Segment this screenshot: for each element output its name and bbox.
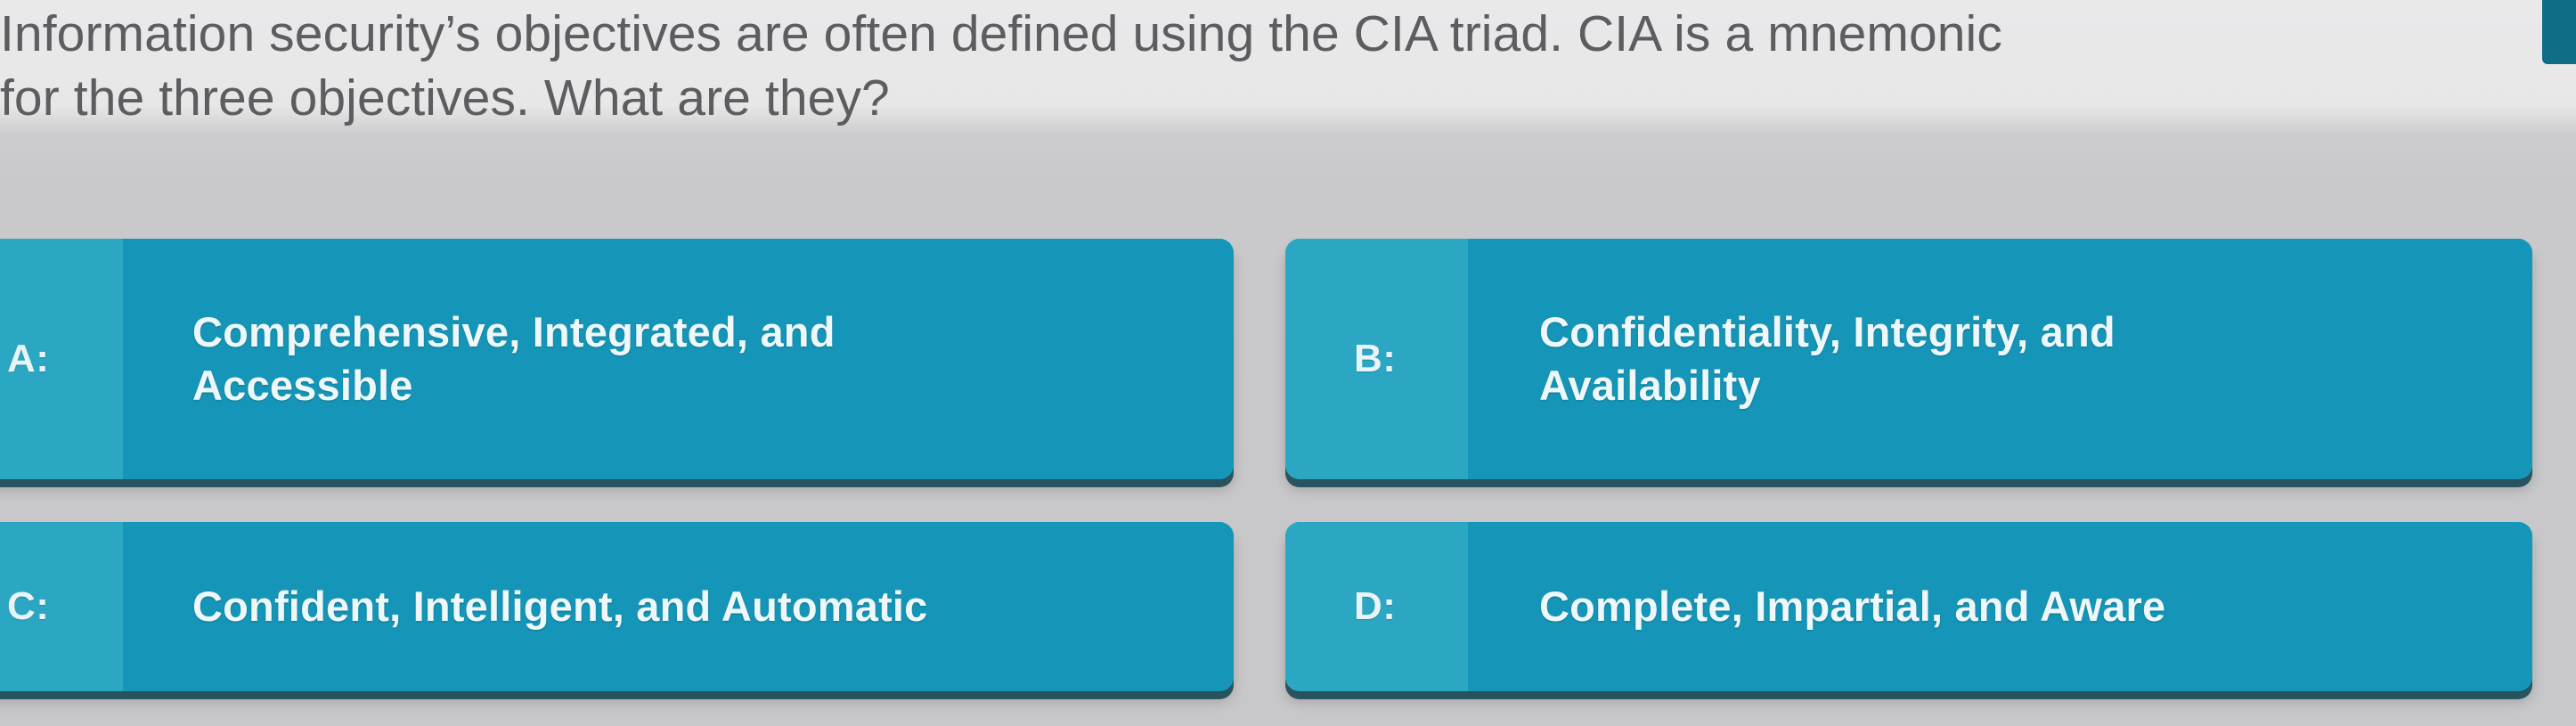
question-text: Information security’s objectives are of… — [0, 2, 2565, 130]
answer-option-a-letter: A: — [7, 337, 49, 381]
answer-options-grid: A: Comprehensive, Integrated, and Access… — [0, 239, 2576, 726]
answer-option-d-text: Complete, Impartial, and Aware — [1539, 580, 2165, 633]
answer-option-a-letter-box: A: — [0, 239, 123, 479]
answer-option-b-text: Confidentiality, Integrity, and Availabi… — [1539, 306, 2115, 412]
answer-option-b-letter: B: — [1354, 337, 1396, 381]
answer-option-c-letter-box: C: — [0, 522, 123, 691]
answer-option-c-letter: C: — [7, 584, 49, 629]
answer-option-b-letter-box: B: — [1285, 239, 1468, 479]
answer-option-b[interactable]: B: Confidentiality, Integrity, and Avail… — [1285, 239, 2532, 479]
answer-option-b-body: Confidentiality, Integrity, and Availabi… — [1468, 239, 2532, 479]
answer-option-a[interactable]: A: Comprehensive, Integrated, and Access… — [0, 239, 1234, 479]
answer-option-d-letter: D: — [1354, 584, 1396, 629]
answer-option-a-body: Comprehensive, Integrated, and Accessibl… — [123, 239, 1234, 479]
answer-option-c-text: Confident, Intelligent, and Automatic — [192, 580, 928, 633]
answer-option-d-letter-box: D: — [1285, 522, 1468, 691]
answer-option-c[interactable]: C: Confident, Intelligent, and Automatic — [0, 522, 1234, 691]
answer-option-d-body: Complete, Impartial, and Aware — [1468, 522, 2532, 691]
answer-option-c-body: Confident, Intelligent, and Automatic — [123, 522, 1234, 691]
quiz-screen: Information security’s objectives are of… — [0, 0, 2576, 726]
answer-option-a-text: Comprehensive, Integrated, and Accessibl… — [192, 306, 836, 412]
answer-option-d[interactable]: D: Complete, Impartial, and Aware — [1285, 522, 2532, 691]
